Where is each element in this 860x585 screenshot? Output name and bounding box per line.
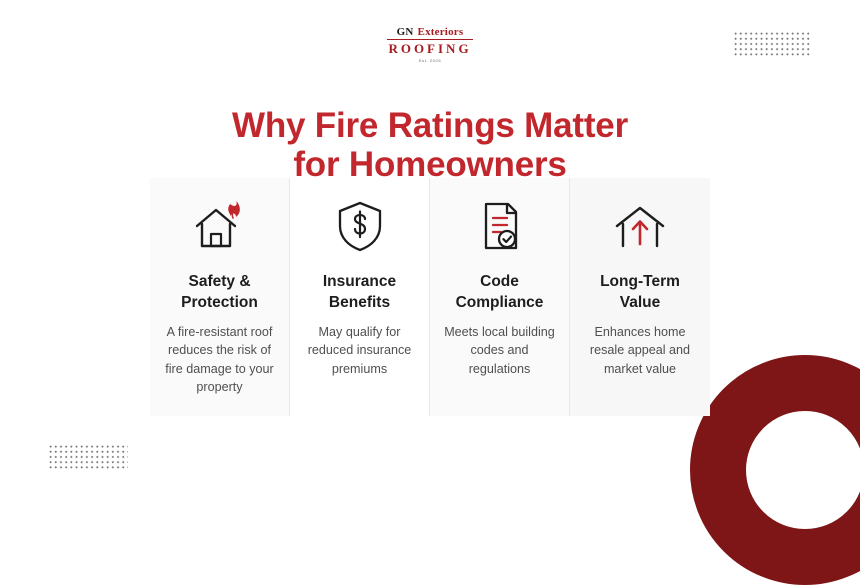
benefit-card-title: Insurance Benefits xyxy=(300,272,419,313)
benefit-card-description: Meets local building codes and regulatio… xyxy=(440,323,559,378)
benefit-card-title: Code Compliance xyxy=(440,272,559,313)
logo-established-text: Est. 2005 xyxy=(419,58,441,63)
logo-gn-text: GN xyxy=(397,26,414,38)
benefit-card-long-term-value: Long-Term Value Enhances home resale app… xyxy=(570,178,710,416)
logo-wordmark-top: GN Exteriors xyxy=(397,26,464,38)
logo-roofing-text: ROOFING xyxy=(388,41,471,57)
benefit-card-description: Enhances home resale appeal and market v… xyxy=(580,323,700,378)
benefit-card-description: May qualify for reduced insurance premiu… xyxy=(300,323,419,378)
house-arrow-up-icon xyxy=(580,196,700,258)
benefit-card-code-compliance: Code Compliance Meets local building cod… xyxy=(430,178,570,416)
benefit-card-list: Safety & Protection A fire-resistant roo… xyxy=(150,178,712,416)
logo-divider xyxy=(387,39,473,40)
page-title-line-1: Why Fire Ratings Matter xyxy=(232,106,628,145)
benefit-card-description: A fire-resistant roof reduces the risk o… xyxy=(160,323,279,396)
document-check-icon xyxy=(440,196,559,258)
decorative-arc-bottom-right xyxy=(690,355,860,585)
shield-dollar-icon xyxy=(300,196,419,258)
brand-logo: GN Exteriors ROOFING Est. 2005 xyxy=(0,26,860,63)
benefit-card-title: Safety & Protection xyxy=(160,272,279,313)
dot-grid-bottom-left xyxy=(48,444,128,470)
benefit-card-insurance: Insurance Benefits May qualify for reduc… xyxy=(290,178,430,416)
benefit-card-safety: Safety & Protection A fire-resistant roo… xyxy=(150,178,290,416)
page-title: Why Fire Ratings Matter for Homeowners xyxy=(0,107,860,183)
benefit-card-title: Long-Term Value xyxy=(580,272,700,313)
house-fire-icon xyxy=(160,196,279,258)
logo-exteriors-text: Exteriors xyxy=(418,26,464,38)
arc-shape-top-left xyxy=(0,0,24,2)
